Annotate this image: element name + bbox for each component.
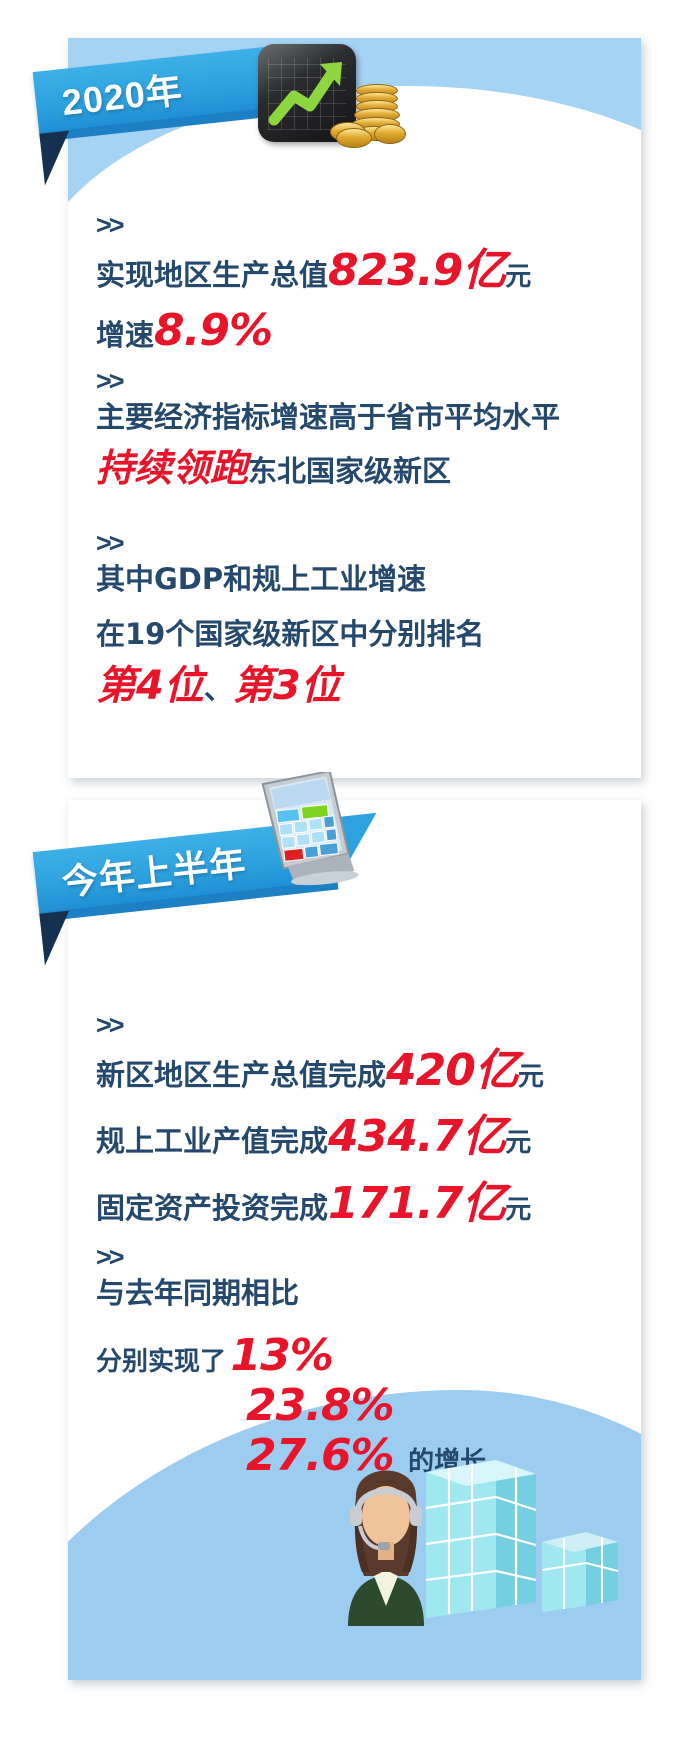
bullet-2-line-1: 主要经济指标增速高于省市平均水平 xyxy=(96,399,560,436)
bullet-3-line-3: 第4位、第3位 xyxy=(96,661,484,712)
value-gdp-2020: 823.9亿 xyxy=(328,245,505,296)
value-growth-2020: 8.9% xyxy=(154,305,272,356)
calculator-icon xyxy=(250,772,360,892)
bullet-4-line-1: 新区地区生产总值完成420亿元 xyxy=(96,1043,544,1099)
bullet-1-marker: >> xyxy=(96,212,531,239)
bullet-4: >> 新区地区生产总值完成420亿元 规上工业产值完成434.7亿元 固定资产投… xyxy=(96,1012,544,1236)
bullet-1-line-2: 增速8.9% xyxy=(96,303,531,359)
bullet-3-marker: >> xyxy=(96,530,484,557)
bullet-1: >> 实现地区生产总值823.9亿元 增速8.9% xyxy=(96,212,531,364)
bullet-2: >> 主要经济指标增速高于省市平均水平 持续领跑东北国家级新区 xyxy=(96,368,560,497)
emphasis-leading: 持续领跑 xyxy=(96,446,248,490)
text-industrial-output-label: 规上工业产值完成 xyxy=(96,1124,328,1158)
bullet-1-line-1: 实现地区生产总值823.9亿元 xyxy=(96,243,531,299)
banner-2020-tail xyxy=(39,131,74,186)
text-rank-among-19: 在19个国家级新区中分别排名 xyxy=(96,617,484,651)
text-respectively-achieved: 分别实现了 xyxy=(96,1347,226,1377)
banner-half-year-tail xyxy=(39,911,74,966)
text-growth-label: 增速 xyxy=(96,318,154,352)
text-gdp-label: 实现地区生产总值 xyxy=(96,258,328,292)
bullet-4-line-3: 固定资产投资完成171.7亿元 xyxy=(96,1176,544,1232)
bullet-3-line-1: 其中GDP和规上工业增速 xyxy=(96,561,484,598)
text-gdp-and-industry-growth: 其中GDP和规上工业增速 xyxy=(96,562,426,596)
infographic-poster: 2020年 >> 实现地区生产总值823.9亿元 增速8.9% > xyxy=(0,0,681,1742)
bullet-4-line-2: 规上工业产值完成434.7亿元 xyxy=(96,1109,544,1165)
growth-row-2: 23.8% xyxy=(96,1384,486,1428)
unit-yuan-2: 元 xyxy=(518,1062,544,1092)
footer-art-svg xyxy=(330,1430,630,1650)
value-growth-1: 13% xyxy=(230,1330,332,1381)
value-newarea-gdp: 420亿 xyxy=(386,1045,518,1096)
bullet-3: >> 其中GDP和规上工业增速 在19个国家级新区中分别排名 第4位、第3位 xyxy=(96,530,484,716)
bullet-2-line-2: 持续领跑东北国家级新区 xyxy=(96,444,560,493)
text-northeast-new-area: 东北国家级新区 xyxy=(248,454,451,488)
unit-yuan-4: 元 xyxy=(505,1195,531,1225)
bullet-4-marker: >> xyxy=(96,1012,544,1039)
bullet-5-line-1: 与去年同期相比 xyxy=(96,1275,486,1312)
headset-operator-icon xyxy=(348,1471,424,1627)
value-fixed-investment: 171.7亿 xyxy=(328,1178,505,1229)
text-fixed-investment-label: 固定资产投资完成 xyxy=(96,1191,328,1225)
growth-row-1: 分别实现了 13% xyxy=(96,1334,486,1378)
bullet-3-line-2: 在19个国家级新区中分别排名 xyxy=(96,616,484,653)
coins-icon xyxy=(330,84,406,146)
bullet-2-marker: >> xyxy=(96,368,560,395)
text-newarea-gdp-label: 新区地区生产总值完成 xyxy=(96,1058,386,1092)
value-rank-industry: 第3位 xyxy=(233,663,341,709)
text-indicators-above-average: 主要经济指标增速高于省市平均水平 xyxy=(96,400,560,434)
value-growth-2: 23.8% xyxy=(246,1380,394,1431)
value-rank-gdp: 第4位 xyxy=(96,663,204,709)
bullet-5-marker: >> xyxy=(96,1244,486,1271)
footer-illustration xyxy=(330,1430,630,1650)
calculator-glyph xyxy=(250,772,360,892)
rank-separator: 、 xyxy=(204,672,233,706)
text-compared-to-last-year: 与去年同期相比 xyxy=(96,1276,299,1310)
office-buildings-icon xyxy=(426,1460,620,1620)
unit-yuan-3: 元 xyxy=(505,1128,531,1158)
unit-yuan-1: 元 xyxy=(505,262,531,292)
value-industrial-output: 434.7亿 xyxy=(328,1111,505,1162)
